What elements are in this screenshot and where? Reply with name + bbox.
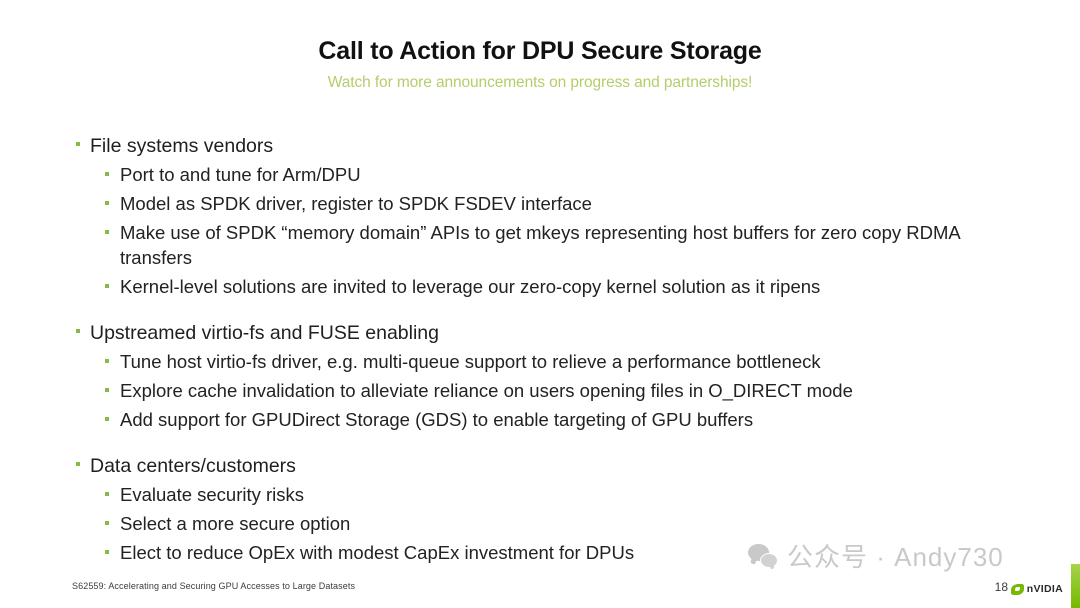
bullet-marker-icon	[105, 521, 109, 525]
bullet-text: Data centers/customers	[90, 455, 296, 477]
bullet-text: Port to and tune for Arm/DPU	[120, 164, 361, 185]
bullet-marker-icon	[105, 230, 109, 234]
accent-bar	[1071, 564, 1080, 608]
bullet-group: Data centers/customers Evaluate security…	[72, 453, 1032, 566]
nvidia-wordmark: nVIDIA	[1027, 583, 1063, 595]
bullet-text: Elect to reduce OpEx with modest CapEx i…	[120, 542, 634, 563]
bullet-level1: File systems vendors	[72, 133, 1032, 159]
nvidia-eye-icon	[1011, 584, 1024, 595]
bullet-text: Add support for GPUDirect Storage (GDS) …	[120, 409, 753, 430]
bullet-level2: Explore cache invalidation to alleviate …	[72, 379, 1032, 404]
bullet-marker-icon	[105, 492, 109, 496]
bullet-level2: Make use of SPDK “memory domain” APIs to…	[72, 221, 1032, 271]
bullet-marker-icon	[76, 142, 80, 146]
bullet-text: File systems vendors	[90, 135, 273, 157]
bullet-level2: Tune host virtio-fs driver, e.g. multi-q…	[72, 350, 1032, 375]
bullet-marker-icon	[105, 388, 109, 392]
footer-session-title: S62559: Accelerating and Securing GPU Ac…	[72, 581, 355, 591]
bullet-level2: Model as SPDK driver, register to SPDK F…	[72, 192, 1032, 217]
bullet-text: Explore cache invalidation to alleviate …	[120, 380, 853, 401]
nvidia-logo: nVIDIA	[1011, 583, 1063, 595]
bullet-level2: Port to and tune for Arm/DPU	[72, 163, 1032, 188]
bullet-level2: Evaluate security risks	[72, 483, 1032, 508]
bullet-text: Tune host virtio-fs driver, e.g. multi-q…	[120, 351, 821, 372]
bullet-group: Upstreamed virtio-fs and FUSE enabling T…	[72, 320, 1032, 433]
bullet-text: Kernel-level solutions are invited to le…	[120, 276, 820, 297]
bullet-level2: Add support for GPUDirect Storage (GDS) …	[72, 408, 1032, 433]
slide-page-number: 18	[995, 580, 1008, 594]
slide-content: File systems vendors Port to and tune fo…	[72, 133, 1032, 566]
bullet-level1: Data centers/customers	[72, 453, 1032, 479]
bullet-marker-icon	[105, 172, 109, 176]
bullet-marker-icon	[105, 284, 109, 288]
bullet-text: Make use of SPDK “memory domain” APIs to…	[120, 222, 960, 268]
bullet-text: Model as SPDK driver, register to SPDK F…	[120, 193, 592, 214]
bullet-level2: Kernel-level solutions are invited to le…	[72, 275, 1032, 300]
slide-header: Call to Action for DPU Secure Storage Wa…	[0, 0, 1080, 91]
page-subtitle: Watch for more announcements on progress…	[0, 74, 1080, 91]
bullet-text: Evaluate security risks	[120, 484, 304, 505]
bullet-marker-icon	[105, 359, 109, 363]
bullet-marker-icon	[105, 550, 109, 554]
bullet-marker-icon	[105, 417, 109, 421]
bullet-text: Select a more secure option	[120, 513, 350, 534]
bullet-level1: Upstreamed virtio-fs and FUSE enabling	[72, 320, 1032, 346]
bullet-level2: Elect to reduce OpEx with modest CapEx i…	[72, 541, 1032, 566]
bullet-text: Upstreamed virtio-fs and FUSE enabling	[90, 322, 439, 344]
bullet-group: File systems vendors Port to and tune fo…	[72, 133, 1032, 300]
bullet-marker-icon	[105, 201, 109, 205]
bullet-level2: Select a more secure option	[72, 512, 1032, 537]
bullet-marker-icon	[76, 462, 80, 466]
bullet-marker-icon	[76, 329, 80, 333]
page-title: Call to Action for DPU Secure Storage	[0, 38, 1080, 66]
